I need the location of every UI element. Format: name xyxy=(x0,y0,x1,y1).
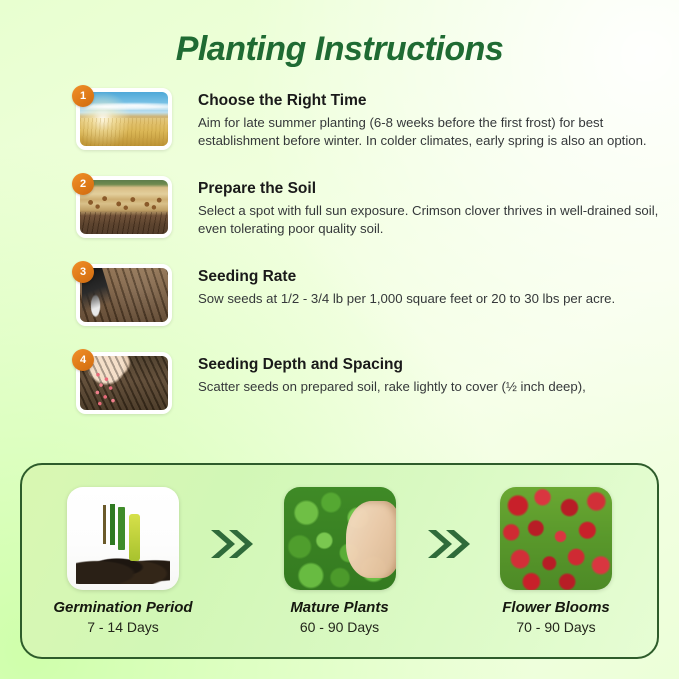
timeline-stage-label: Germination Period xyxy=(48,599,198,616)
timeline-stage: Germination Period 7 - 14 Days xyxy=(48,487,198,635)
timeline-stage: Mature Plants 60 - 90 Days xyxy=(265,487,415,635)
step-text: Seeding Depth and Spacing Scatter seeds … xyxy=(198,352,664,396)
step-thumbnail-wrap: 3 xyxy=(76,264,180,326)
step-thumbnail-wrap: 4 xyxy=(76,352,180,414)
step-title: Seeding Rate xyxy=(198,268,664,286)
step-description: Sow seeds at 1/2 - 3/4 lb per 1,000 squa… xyxy=(198,290,664,308)
step-item: 1 Choose the Right Time Aim for late sum… xyxy=(76,88,664,166)
timeline-stage-days: 7 - 14 Days xyxy=(48,619,198,635)
step-text: Seeding Rate Sow seeds at 1/2 - 3/4 lb p… xyxy=(198,264,664,308)
crimson-clover-blooms-photo xyxy=(500,487,612,590)
page-title: Planting Instructions xyxy=(0,30,679,69)
sprouting-seedling-photo xyxy=(67,487,179,590)
double-chevron-right-icon xyxy=(422,518,474,570)
step-thumbnail-wrap: 2 xyxy=(76,176,180,238)
step-number-badge: 4 xyxy=(72,349,94,371)
double-chevron-right-icon xyxy=(205,518,257,570)
step-item: 4 Seeding Depth and Spacing Scatter seed… xyxy=(76,352,664,430)
step-description: Select a spot with full sun exposure. Cr… xyxy=(198,202,664,237)
clover-leaves-hand-photo xyxy=(284,487,396,590)
step-number-badge: 1 xyxy=(72,85,94,107)
timeline-stage-label: Flower Blooms xyxy=(481,599,631,616)
growth-timeline-panel: Germination Period 7 - 14 Days Mature Pl… xyxy=(20,463,659,659)
infographic-page: Planting Instructions 1 Choose the Right… xyxy=(0,0,679,679)
timeline-stage-days: 70 - 90 Days xyxy=(481,619,631,635)
step-item: 3 Seeding Rate Sow seeds at 1/2 - 3/4 lb… xyxy=(76,264,664,342)
step-description: Scatter seeds on prepared soil, rake lig… xyxy=(198,378,664,396)
step-title: Choose the Right Time xyxy=(198,92,664,110)
step-text: Choose the Right Time Aim for late summe… xyxy=(198,88,664,149)
step-number-badge: 3 xyxy=(72,261,94,283)
step-description: Aim for late summer planting (6-8 weeks … xyxy=(198,114,664,149)
step-item: 2 Prepare the Soil Select a spot with fu… xyxy=(76,176,664,254)
timeline-stage-label: Mature Plants xyxy=(265,599,415,616)
step-title: Seeding Depth and Spacing xyxy=(198,356,664,374)
steps-list: 1 Choose the Right Time Aim for late sum… xyxy=(76,88,664,440)
timeline-stage-days: 60 - 90 Days xyxy=(265,619,415,635)
step-text: Prepare the Soil Select a spot with full… xyxy=(198,176,664,237)
timeline-stage: Flower Blooms 70 - 90 Days xyxy=(481,487,631,635)
step-title: Prepare the Soil xyxy=(198,180,664,198)
step-thumbnail-wrap: 1 xyxy=(76,88,180,150)
step-number-badge: 2 xyxy=(72,173,94,195)
